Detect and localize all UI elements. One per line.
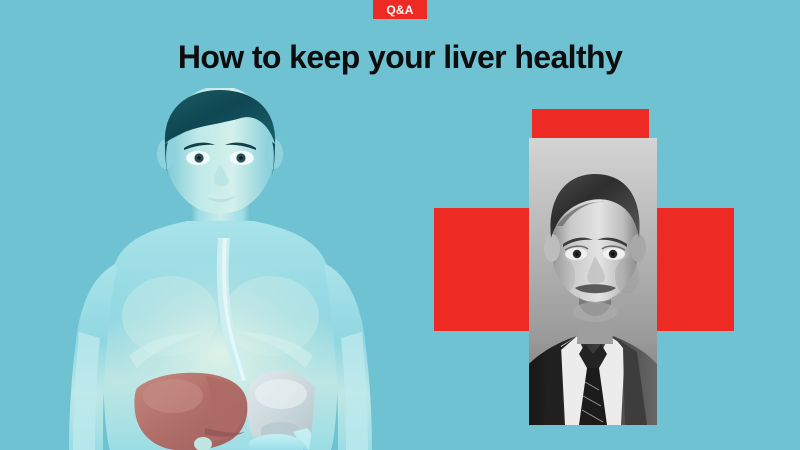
qa-badge-label: Q&A [386, 4, 413, 16]
page-title: How to keep your liver healthy [0, 38, 800, 76]
human-digestive-anatomy-illustration [55, 88, 385, 450]
doctor-portrait-photo [529, 138, 657, 425]
qa-badge: Q&A [373, 0, 427, 19]
qa-article-card: Q&A How to keep your liver healthy [0, 0, 800, 450]
